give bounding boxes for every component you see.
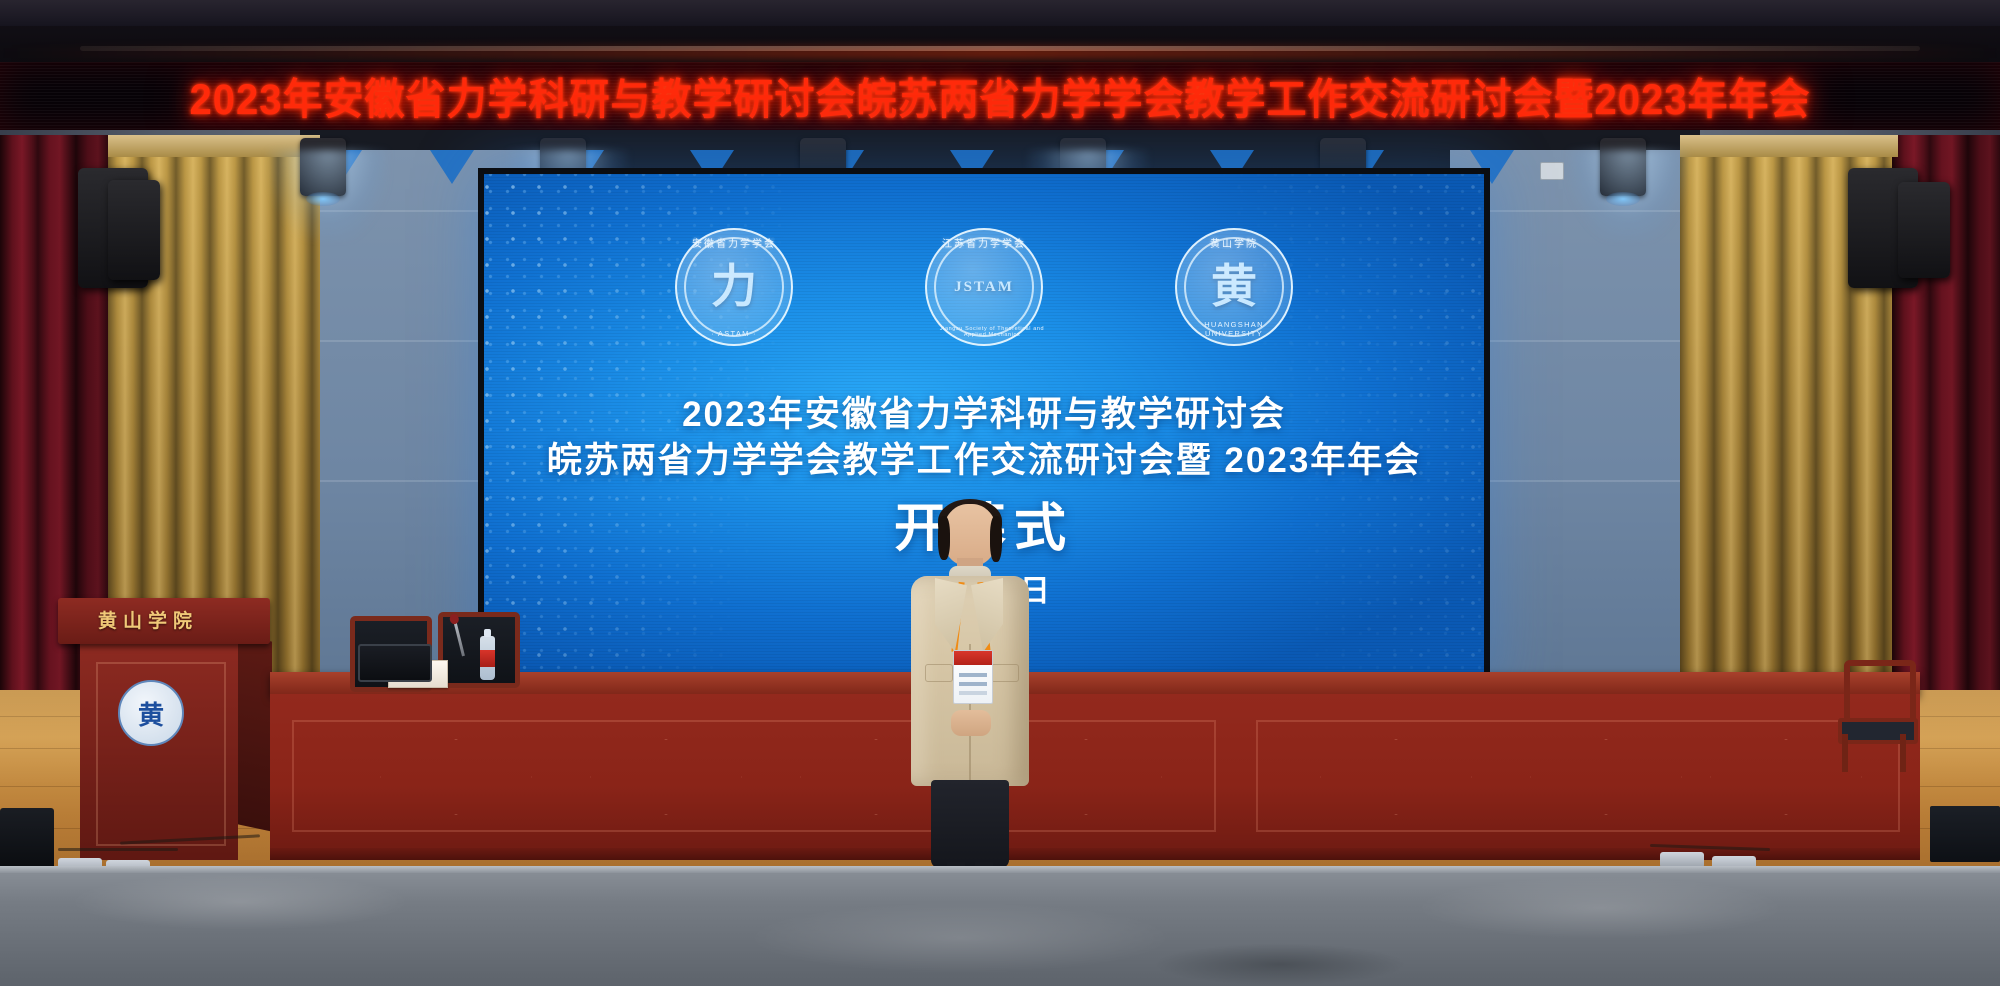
conference-table xyxy=(270,672,1920,864)
podium: 黄 黄山学院 xyxy=(58,598,270,860)
presenter-chair xyxy=(438,612,520,688)
side-chair xyxy=(1838,660,1910,772)
coat-pocket-right xyxy=(991,664,1019,682)
head xyxy=(943,504,997,566)
floor-cable xyxy=(58,848,178,851)
hair-side-left xyxy=(938,516,950,560)
curtain-rail-right xyxy=(1680,135,1898,157)
water-bottle xyxy=(480,636,495,680)
podium-top: 黄山学院 xyxy=(58,598,270,644)
led-banner-glow xyxy=(0,48,2000,58)
led-banner: 2023年安徽省力学科研与教学研讨会皖苏两省力学学会教学工作交流研讨会暨2023… xyxy=(0,62,2000,130)
ceiling-beam xyxy=(0,0,2000,26)
jiangsu-society-logo: 江苏省力学学会 JSTAM Jiangsu Society of Theoret… xyxy=(925,228,1043,346)
laptop xyxy=(358,644,432,682)
stage-lamp xyxy=(300,138,346,196)
screen-title: 2023年安徽省力学科研与教学研讨会 xyxy=(484,386,1484,437)
camera-rig xyxy=(1898,182,1950,278)
logo-en-text: · ASTAM · xyxy=(675,329,793,338)
stage-photo-scene: 2023年安徽省力学科研与教学研讨会皖苏两省力学学会教学工作交流研讨会暨2023… xyxy=(0,0,2000,986)
logo-cn-text: 黄山学院 xyxy=(1175,235,1293,250)
marble-texture xyxy=(0,866,2000,986)
floor-equipment-box xyxy=(1930,806,2000,862)
huangshan-university-logo: 黄山学院 黄 HUANGSHAN UNIVERSITY xyxy=(1175,228,1293,346)
floor-speaker xyxy=(0,808,54,870)
wall-outlet xyxy=(1540,162,1564,180)
logo-en-text: Jiangsu Society of Theoretical and Appli… xyxy=(925,326,1059,338)
skirt xyxy=(931,780,1009,868)
table-front-face xyxy=(270,694,1920,860)
stage-apron xyxy=(0,866,2000,986)
anhui-society-logo: 安徽省力学学会 力 · ASTAM · xyxy=(675,228,793,346)
logo-cn-text: 江苏省力学学会 xyxy=(925,235,1043,250)
hair-side-right xyxy=(990,516,1002,562)
coat-pocket-left xyxy=(925,664,953,682)
logo-cn-text: 安徽省力学学会 xyxy=(675,235,793,250)
logo-en-text: HUANGSHAN UNIVERSITY xyxy=(1175,320,1293,338)
podium-body xyxy=(80,644,238,860)
screen-subtitle: 皖苏两省力学学会教学工作交流研讨会暨 2023年年会 xyxy=(484,432,1484,483)
camera-rig xyxy=(108,180,160,280)
hands xyxy=(951,710,991,736)
screen-logos-row: 安徽省力学学会 力 · ASTAM · 江苏省力学学会 JSTAM Jiangs… xyxy=(484,228,1484,346)
person-speaker xyxy=(905,504,1035,904)
conference-badge xyxy=(953,650,993,704)
podium-emblem: 黄 xyxy=(118,680,184,746)
curtain-rail-left xyxy=(108,135,320,157)
podium-name-text: 黄山学院 xyxy=(58,606,238,633)
truss-fin-icon xyxy=(430,150,474,184)
led-banner-text: 2023年安徽省力学科研与教学研讨会皖苏两省力学学会教学工作交流研讨会暨2023… xyxy=(190,65,1811,126)
stage-lamp xyxy=(1600,138,1646,196)
podium-side-panel xyxy=(238,634,272,831)
